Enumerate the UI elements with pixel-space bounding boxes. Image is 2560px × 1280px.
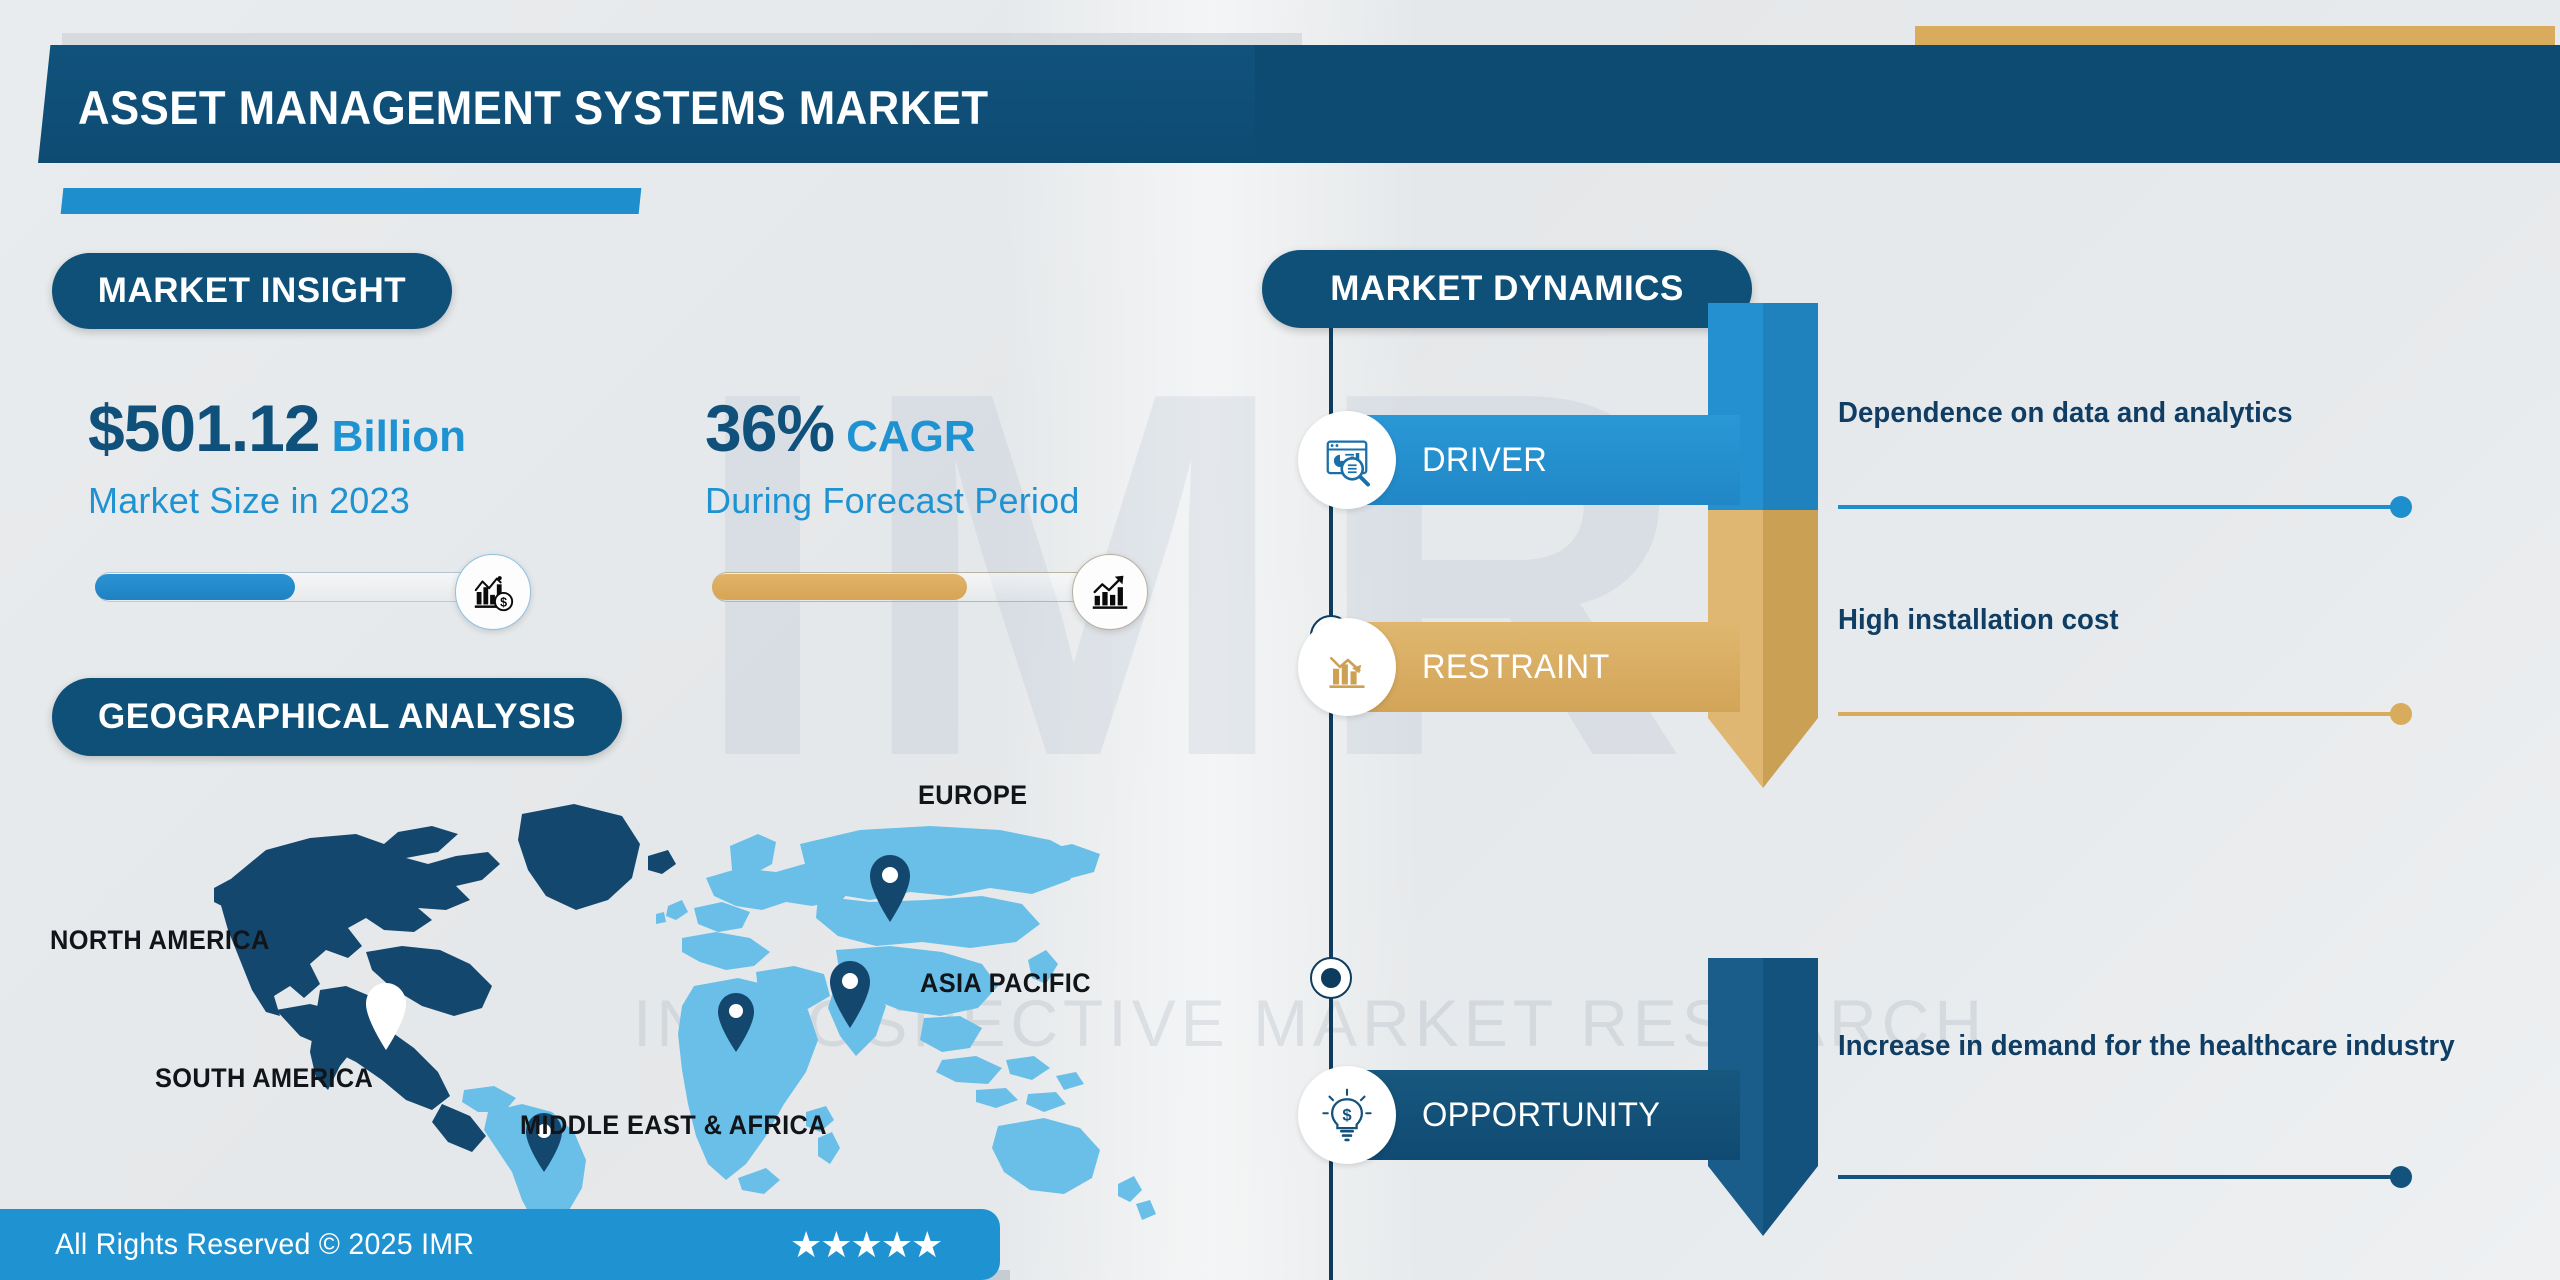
opportunity-connector-line [1838,1175,2408,1179]
progress-fill [712,574,967,600]
svg-text:$: $ [500,595,507,609]
market-size-caption: Market Size in 2023 [88,480,648,522]
lightbulb-dollar-icon: $ [1298,1066,1396,1164]
opportunity-connector-dot [2390,1166,2412,1188]
svg-text:$: $ [1342,1105,1351,1124]
bar-chart-dollar-icon: $ [455,554,531,630]
map-label-middle-east-africa: MIDDLE EAST & AFRICA [520,1110,827,1141]
map-label-europe: EUROPE [918,780,1027,811]
cagr-progress [712,558,1107,618]
market-size-progress: $ [95,558,490,618]
stat-market-size: $501.12Billion Market Size in 2023 [88,390,648,522]
map-label-asia-pacific: ASIA PACIFIC [920,968,1091,999]
section-pill-market-insight: MARKET INSIGHT [52,253,452,329]
cagr-unit: CAGR [846,412,976,461]
restraint-connector-line [1838,712,2408,716]
cagr-value: 36% [705,391,834,465]
section-pill-geographical-analysis: GEOGRAPHICAL ANALYSIS [52,678,622,756]
map-region-north-america [214,804,676,1152]
market-size-value: $501.12 [88,391,320,465]
copyright-text: All Rights Reserved © 2025 IMR [55,1209,474,1280]
opportunity-label: OPPORTUNITY [1422,1070,1660,1160]
page-title: ASSET MANAGEMENT SYSTEMS MARKET [78,78,1566,138]
driver-connector-line [1838,505,2408,509]
stat-cagr: 36%CAGR During Forecast Period [705,390,1265,522]
dynamics-item-restraint: RESTRAINT High installation cost [1290,552,2560,852]
opportunity-description: Increase in demand for the healthcare in… [1838,1024,2503,1068]
header-blue-underline [61,188,642,214]
dynamics-timeline-node-2 [1310,957,1352,999]
dynamics-item-opportunity: $ OPPORTUNITY Increase in demand for the… [1290,1000,2560,1280]
stat-value-row: $501.12Billion [88,390,648,466]
restraint-connector-dot [2390,703,2412,725]
cagr-caption: During Forecast Period [705,480,1265,522]
driver-bar: DRIVER [1340,415,1740,505]
analytics-dashboard-search-icon [1298,411,1396,509]
progress-fill [95,574,295,600]
driver-label: DRIVER [1422,415,1547,505]
map-region-south-america [462,1086,586,1228]
stat-value-row: 36%CAGR [705,390,1265,466]
footer-bar: All Rights Reserved © 2025 IMR ★★★★★ [0,1209,1000,1280]
map-label-north-america: NORTH AMERICA [50,925,270,956]
opportunity-bar: $ OPPORTUNITY [1340,1070,1740,1160]
infographic-canvas: IMR INTROSPECTIVE MARKET RESEARCH ASSET … [0,0,2560,1280]
rating-stars: ★★★★★ [790,1209,941,1280]
driver-connector-dot [2390,496,2412,518]
market-size-unit: Billion [332,412,466,461]
driver-description: Dependence on data and analytics [1838,391,2503,435]
map-label-south-america: SOUTH AMERICA [155,1063,373,1094]
section-pill-market-dynamics: MARKET DYNAMICS [1262,250,1752,328]
growth-chart-arrow-icon [1072,554,1148,630]
restraint-description: High installation cost [1838,598,2503,642]
restraint-bar: RESTRAINT [1340,622,1740,712]
restraint-label: RESTRAINT [1422,622,1610,712]
declining-bar-chart-icon [1298,618,1396,716]
